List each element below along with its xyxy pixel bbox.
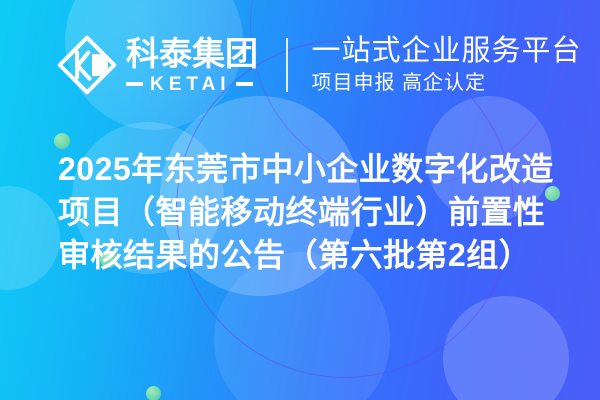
decor-green-dot-4	[146, 386, 161, 400]
decor-green-dot-1	[54, 133, 70, 149]
logo-rule-right	[236, 82, 253, 86]
company-name-cn: 科泰集团	[126, 37, 258, 70]
tagline-primary: 一站式企业服务平台	[312, 35, 582, 67]
ketai-diamond-monogram-icon	[56, 34, 118, 96]
title-line-1: 2025年东莞市中小企业数字化改造	[26, 148, 574, 191]
company-name-en-row: KETAI	[126, 75, 258, 94]
title-line-2: 项目（智能移动终端行业）前置性	[26, 191, 574, 234]
decor-circle-bottom-right	[443, 296, 569, 400]
title-line-3: 审核结果的公告（第六批第2组）	[26, 234, 574, 277]
header-divider	[286, 38, 288, 92]
banner-header: 科泰集团 KETAI 一站式企业服务平台 项目申报 高企认定	[0, 0, 600, 130]
brand-tagline: 一站式企业服务平台 项目申报 高企认定	[312, 35, 582, 94]
logo-rule-left	[126, 82, 143, 86]
announcement-title: 2025年东莞市中小企业数字化改造 项目（智能移动终端行业）前置性 审核结果的公…	[0, 148, 600, 277]
announcement-banner: 科泰集团 KETAI 一站式企业服务平台 项目申报 高企认定 2025年东莞市中…	[0, 0, 600, 400]
company-name-en: KETAI	[143, 75, 236, 94]
brand-logo[interactable]: 科泰集团 KETAI	[56, 34, 258, 96]
tagline-secondary: 项目申报 高企认定	[312, 71, 582, 95]
brand-logo-text: 科泰集团 KETAI	[126, 37, 258, 94]
